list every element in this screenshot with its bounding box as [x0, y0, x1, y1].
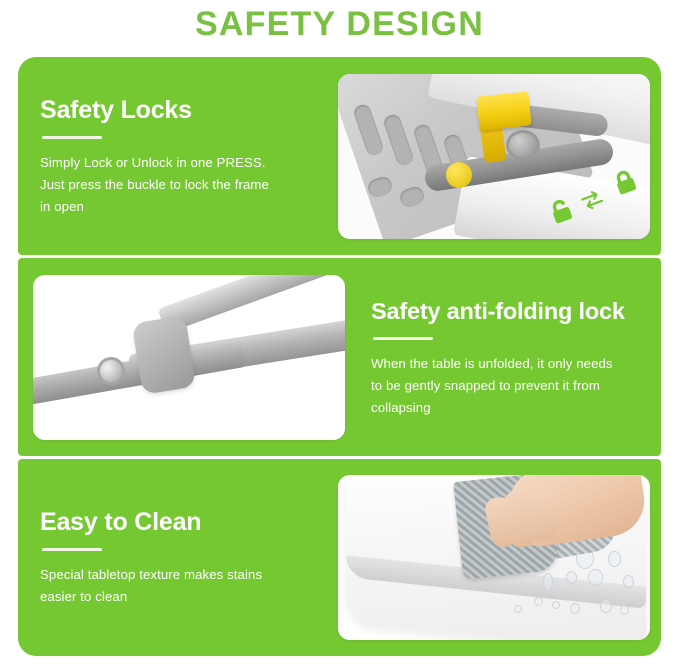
feature-panel-safety-locks: Safety Locks Simply Lock or Unlock in on…: [18, 57, 661, 255]
feature-panel-anti-folding-lock: Close-up of the grey folding leg joint b…: [18, 258, 661, 456]
feature-body: Simply Lock or Unlock in one PRESS. Just…: [40, 152, 322, 218]
water-droplet: [570, 603, 580, 614]
water-droplet: [600, 599, 612, 613]
lock-toggle-icon-group: [548, 169, 640, 231]
feature-body-line: Special tabletop texture makes stains: [40, 567, 262, 582]
heading-rule: [373, 337, 433, 340]
feature-text-block: Safety Locks Simply Lock or Unlock in on…: [18, 95, 338, 218]
feature-heading: Safety anti-folding lock: [371, 296, 647, 326]
feature-body: When the table is unfolded, it only need…: [371, 353, 647, 419]
feature-photo-easy-to-clean: A hand wiping a white tabletop with a gr…: [338, 475, 650, 640]
heading-rule: [42, 548, 102, 551]
feature-body: Special tabletop texture makes stains ea…: [40, 564, 322, 608]
feature-heading: Safety Locks: [40, 95, 322, 125]
water-droplet: [514, 605, 522, 613]
feature-panel-stack: Safety Locks Simply Lock or Unlock in on…: [18, 57, 661, 656]
water-droplet: [543, 573, 553, 591]
lock-closed-icon: [609, 165, 642, 202]
feature-photo-safety-locks: Close-up of the white table frame buckle…: [338, 74, 650, 239]
feature-body-line: in open: [40, 199, 84, 214]
water-droplet: [552, 601, 560, 609]
feature-body-line: collapsing: [371, 400, 431, 415]
heading-rule: [42, 136, 102, 139]
finger: [526, 488, 557, 542]
feature-heading: Easy to Clean: [40, 507, 322, 537]
water-droplet: [566, 571, 577, 584]
water-droplet: [588, 569, 603, 586]
toggle-arrows-icon: [579, 187, 608, 216]
feature-text-block: Easy to Clean Special tabletop texture m…: [18, 507, 338, 608]
yellow-buckle: [476, 91, 531, 130]
water-droplet: [534, 597, 543, 606]
water-droplet: [623, 575, 634, 588]
pivot-joint: [506, 130, 540, 160]
feature-body-line: to be gently snapped to prevent it from: [371, 378, 600, 393]
page-title: SAFETY DESIGN: [0, 0, 679, 46]
water-droplet: [620, 605, 629, 615]
feature-body-line: Just press the buckle to lock the frame: [40, 177, 269, 192]
feature-text-block: Safety anti-folding lock When the table …: [345, 296, 661, 419]
lock-open-icon: [545, 194, 578, 231]
feature-photo-anti-folding-lock: Close-up of the grey folding leg joint b…: [33, 275, 345, 440]
anti-folding-bracket: [132, 315, 197, 395]
yellow-knob: [446, 162, 472, 188]
feature-body-line: When the table is unfolded, it only need…: [371, 356, 613, 371]
feature-body-line: Simply Lock or Unlock in one PRESS.: [40, 155, 266, 170]
water-droplet: [608, 551, 621, 567]
feature-panel-easy-to-clean: Easy to Clean Special tabletop texture m…: [18, 459, 661, 656]
feature-body-line: easier to clean: [40, 589, 127, 604]
